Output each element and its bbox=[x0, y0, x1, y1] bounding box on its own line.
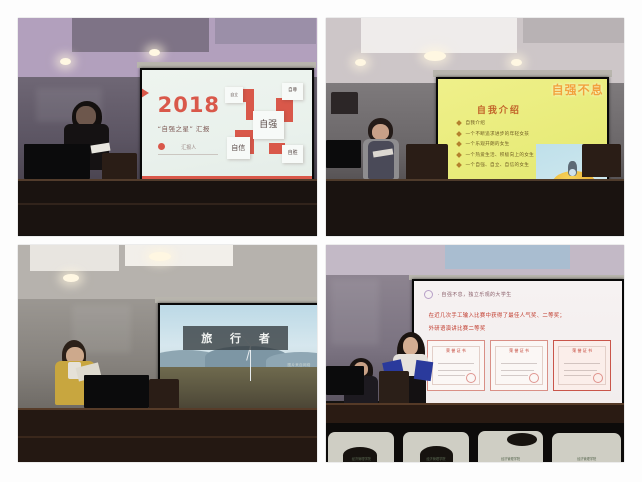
torso-vest bbox=[368, 141, 394, 179]
certificate-image: 荣 誉 证 书 bbox=[427, 340, 486, 391]
list-item: 自我介绍 bbox=[457, 120, 586, 126]
bullet-icon bbox=[456, 131, 462, 137]
podium-desk bbox=[18, 408, 317, 462]
certificate-line bbox=[564, 370, 597, 371]
ground bbox=[160, 367, 316, 408]
ceiling-recess bbox=[30, 245, 120, 272]
bullet-icon bbox=[456, 162, 462, 168]
certificate-gallery: 荣 誉 证 书 荣 誉 证 书 bbox=[427, 340, 610, 389]
head bbox=[403, 337, 419, 355]
downlight-icon bbox=[63, 274, 79, 282]
downlight-icon bbox=[149, 252, 171, 261]
cartoon-figure-face bbox=[569, 169, 575, 176]
slide-subtitle: “自强之星” 汇报 bbox=[158, 123, 210, 133]
certificate-image: 荣 誉 证 书 bbox=[490, 340, 549, 391]
projector-screen-roller bbox=[155, 297, 316, 304]
slide-body-line-2: 外研语演讲比赛二等奖 bbox=[429, 324, 608, 332]
projector-screen-frame[interactable]: · 自强不息，独立乐观的大学生 在近几次手工输入比赛中获得了最佳人气奖、二等奖；… bbox=[412, 279, 624, 405]
wall-light-glow bbox=[331, 279, 379, 344]
slide-credit: 图片来自网络 bbox=[287, 363, 310, 368]
audience-head bbox=[507, 433, 537, 446]
ceiling-recess-2 bbox=[523, 18, 624, 43]
certificate-line bbox=[564, 363, 600, 364]
podium-desk bbox=[18, 179, 317, 236]
table bbox=[326, 179, 625, 236]
certificate-line bbox=[564, 375, 591, 376]
seat-headrest: 经济管理学院 bbox=[403, 432, 469, 462]
monitor bbox=[326, 140, 362, 168]
audience-seating: 经济管理学院 经济管理学院 经济管理学院 经济管理学院 bbox=[326, 423, 625, 462]
slide-arrow-icon bbox=[142, 88, 149, 98]
chair bbox=[149, 379, 179, 407]
chair bbox=[102, 153, 138, 181]
certificate-title: 荣 誉 证 书 bbox=[572, 348, 592, 354]
list-item: 一个不断追求进步的年轻女孩 bbox=[457, 131, 586, 137]
desk-edge-2 bbox=[18, 436, 317, 438]
slide-tile-group: 自立 自尊 自强 自信 自胜 bbox=[225, 81, 306, 174]
seat-label: 经济管理学院 bbox=[577, 456, 596, 461]
photo-top-left[interactable]: 2018 “自强之星” 汇报 汇报人 自立 自尊 自强 自信 自胜 bbox=[18, 18, 317, 236]
certificate-seal-icon bbox=[593, 373, 603, 383]
certificate-line bbox=[501, 370, 534, 371]
photo-bottom-right[interactable]: · 自强不息，独立乐观的大学生 在近几次手工输入比赛中获得了最佳人气奖、二等奖；… bbox=[326, 245, 625, 463]
blue-folder bbox=[414, 360, 434, 381]
seat-label: 经济管理学院 bbox=[501, 456, 520, 461]
certificate-line bbox=[501, 363, 537, 364]
desk-edge-2 bbox=[18, 203, 317, 205]
monitor bbox=[24, 144, 90, 179]
ceiling-recess bbox=[361, 18, 516, 53]
seat-headrest: 经济管理学院 bbox=[328, 432, 394, 462]
tile-zizun: 自尊 bbox=[282, 83, 303, 100]
slide-presenter-name: 汇报人 bbox=[181, 144, 196, 151]
photo-bottom-left[interactable]: 旅 行 者 图片来自网络 bbox=[18, 245, 317, 463]
seat-headrest: 经济管理学院 bbox=[552, 433, 621, 462]
certificate-title: 荣 誉 证 书 bbox=[509, 348, 529, 354]
photo-top-right[interactable]: 自强不息 自我介绍 自我介绍 一个不断追求进步的年轻女孩 一个乐观开朗的女生 一… bbox=[326, 18, 625, 236]
tile-zili: 自立 bbox=[225, 87, 243, 103]
downlight-icon bbox=[424, 51, 446, 61]
head bbox=[372, 124, 389, 140]
ceiling-recess bbox=[445, 245, 570, 269]
slide-awards: · 自强不息，独立乐观的大学生 在近几次手工输入比赛中获得了最佳人气奖、二等奖；… bbox=[414, 281, 622, 403]
slide-title: 旅 行 者 bbox=[183, 326, 289, 351]
presenter-figure bbox=[361, 118, 400, 179]
slide-2018: 2018 “自强之星” 汇报 汇报人 自立 自尊 自强 自信 自胜 bbox=[142, 70, 311, 183]
slide-header-text: · 自强不息，独立乐观的大学生 bbox=[437, 291, 511, 298]
desk-edge bbox=[18, 408, 317, 410]
desk-edge bbox=[18, 179, 317, 181]
slide-header: · 自强不息，独立乐观的大学生 bbox=[424, 290, 511, 299]
slide-body-line-1: 在近几次手工输入比赛中获得了最佳人气奖、二等奖； bbox=[429, 312, 608, 320]
slide-rule bbox=[158, 154, 219, 155]
ceiling-recess-2 bbox=[125, 245, 232, 267]
tile-ziqiang: 自强 bbox=[253, 111, 284, 139]
collage-grid: 2018 “自强之星” 汇报 汇报人 自立 自尊 自强 自信 自胜 bbox=[18, 18, 624, 462]
certificate-line bbox=[438, 370, 471, 371]
certificate-line bbox=[438, 363, 474, 364]
projector-screen-frame[interactable]: 旅 行 者 图片来自网络 bbox=[158, 303, 316, 410]
bullet-icon bbox=[456, 141, 462, 147]
head bbox=[76, 106, 95, 125]
slide-traveler: 旅 行 者 图片来自网络 bbox=[160, 305, 316, 408]
desk-edge bbox=[326, 179, 625, 181]
chair bbox=[406, 144, 448, 179]
slide-bullet-dot-icon bbox=[158, 143, 165, 150]
projector-screen-roller bbox=[433, 70, 612, 77]
seat-headrest: 经济管理学院 bbox=[478, 431, 544, 462]
ceiling-recess-2 bbox=[215, 18, 316, 44]
ceiling-recess bbox=[72, 18, 209, 52]
certificate-image: 荣 誉 证 书 bbox=[553, 340, 612, 391]
slide-title: 自我介绍 bbox=[477, 103, 521, 116]
tile-zixin: 自信 bbox=[227, 137, 250, 159]
monitor bbox=[84, 375, 150, 408]
bullet-icon bbox=[456, 152, 462, 158]
chair bbox=[379, 371, 409, 406]
desk-edge bbox=[326, 403, 625, 405]
certificate-line bbox=[438, 375, 465, 376]
monitor bbox=[326, 366, 365, 394]
seat-label: 经济管理学院 bbox=[352, 456, 371, 461]
photo-collage: 2018 “自强之星” 汇报 汇报人 自立 自尊 自强 自信 自胜 bbox=[0, 0, 642, 482]
tile-zisheng: 自胜 bbox=[282, 145, 303, 164]
wall-speaker bbox=[331, 92, 358, 114]
bullet-icon bbox=[456, 120, 462, 126]
seat-label: 经济管理学院 bbox=[426, 456, 445, 461]
certificate-title: 荣 誉 证 书 bbox=[446, 348, 466, 354]
slide-corner-title: 自强不息 bbox=[552, 81, 604, 98]
certificate-line bbox=[501, 375, 528, 376]
wind-turbine-tower bbox=[250, 346, 252, 381]
slide-year: 2018 bbox=[158, 95, 220, 116]
chair bbox=[582, 144, 621, 177]
emblem-icon bbox=[424, 290, 433, 299]
projector-screen-frame[interactable]: 2018 “自强之星” 汇报 汇报人 自立 自尊 自强 自信 自胜 bbox=[140, 68, 313, 185]
